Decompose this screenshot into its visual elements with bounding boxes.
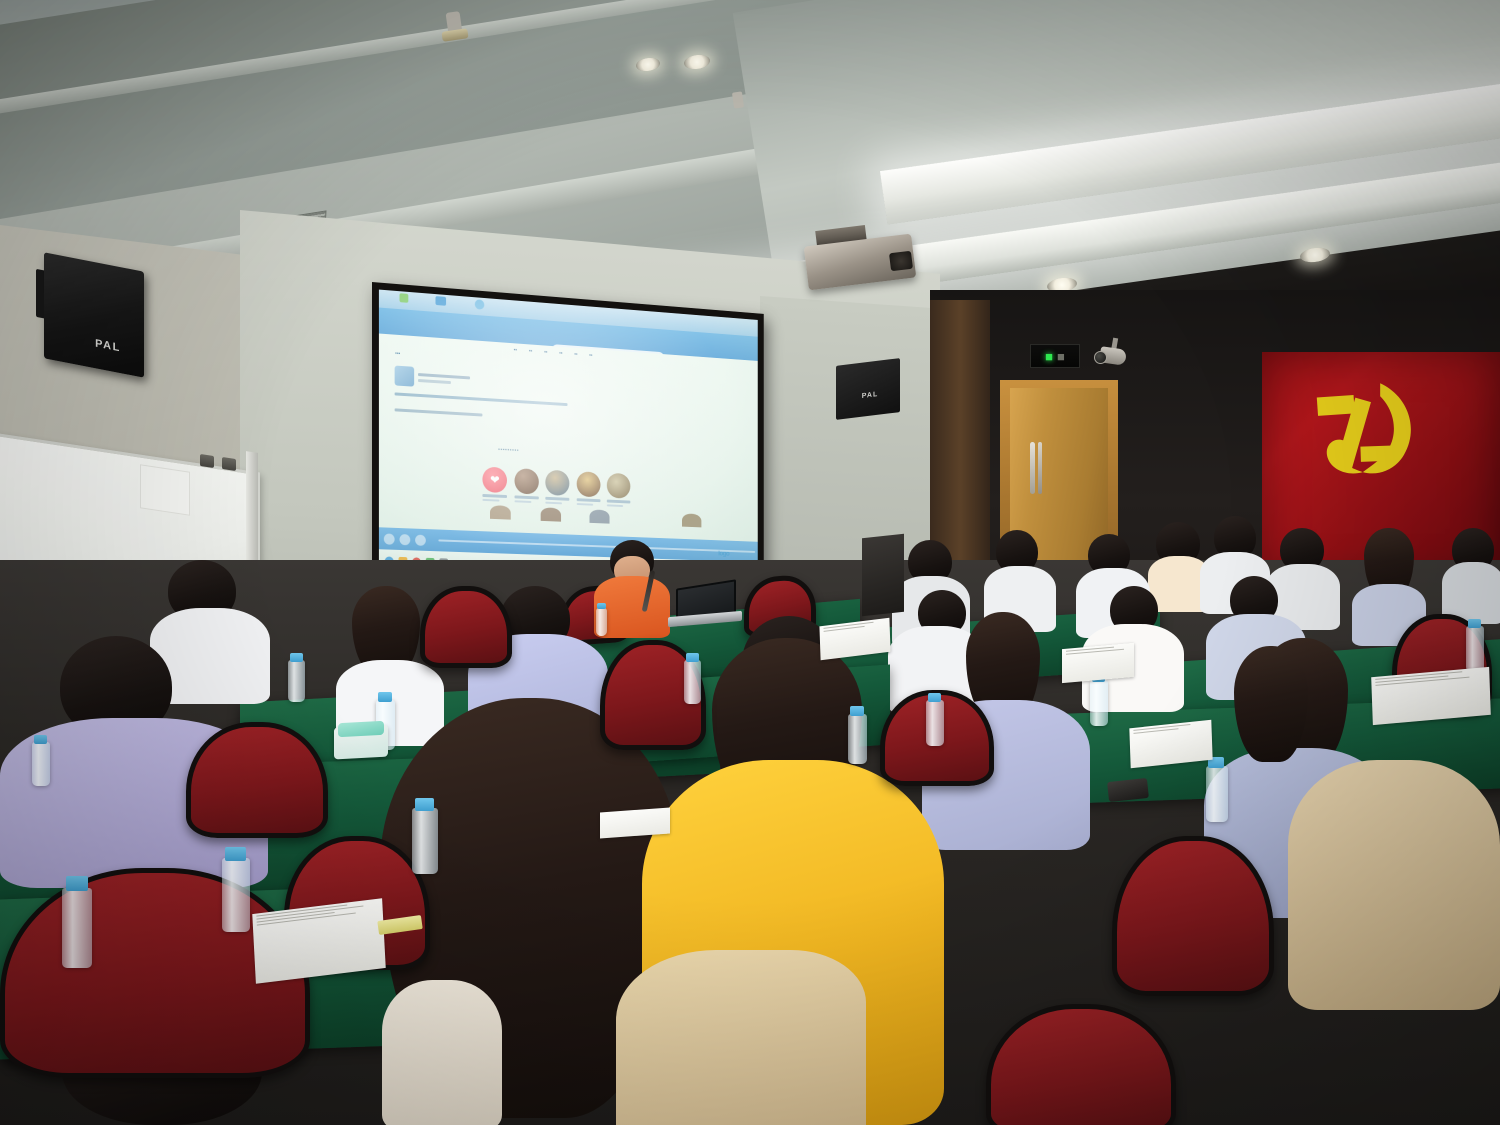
album-thumb-icon: [607, 473, 630, 499]
bottle-cap: [597, 603, 606, 609]
desktop-icon-1[interactable]: [399, 293, 408, 303]
progress-slider[interactable]: [438, 539, 755, 552]
water-bottle[interactable]: [684, 660, 701, 704]
album-thumb-icon: [545, 470, 569, 496]
smartphone[interactable]: [1107, 778, 1149, 802]
nav-tab-2[interactable]: ▪▪: [529, 348, 532, 354]
water-bottle[interactable]: [926, 700, 944, 746]
exit-sign-arrow-icon: ■: [1057, 350, 1065, 363]
door-handle[interactable]: [1030, 442, 1035, 494]
attendee-body: [1288, 760, 1500, 1010]
camera-lens-icon: [1094, 351, 1107, 364]
whiteboard-sheet: [140, 464, 190, 515]
list-item-subline-2: [395, 408, 482, 416]
whiteboard-clip-2: [222, 457, 236, 471]
bottle-cap: [66, 876, 88, 891]
section-title: ▪▪▪: [395, 350, 400, 356]
nav-tab-1[interactable]: ▪▪: [514, 347, 517, 353]
bottle-cap: [1468, 619, 1481, 628]
app-watermark: logo: [718, 551, 729, 558]
prev-button[interactable]: [384, 533, 395, 544]
nav-tab-5[interactable]: ▪▪: [574, 352, 577, 358]
whiteboard-clip-1: [200, 454, 214, 468]
nav-tab-4[interactable]: ▪▪: [559, 350, 562, 356]
tissue-box-lid: [338, 721, 384, 737]
attendee-head: [1234, 646, 1308, 762]
projection-screen: ▪▪ ▪▪ ▪▪ ▪▪ ▪▪ ▪▪ ▪▪▪: [372, 282, 764, 590]
pause-button[interactable]: [400, 534, 411, 545]
chair[interactable]: [420, 586, 512, 668]
album-tile-row2[interactable]: [590, 509, 610, 523]
next-button[interactable]: [415, 534, 426, 545]
list-item-thumbnail: [395, 366, 415, 387]
heart-icon: ❤: [483, 467, 508, 494]
attendee-body: [382, 980, 502, 1125]
bottle-cap: [378, 692, 392, 702]
sprinkler-head: [732, 91, 744, 108]
exit-sign-running-man-icon: ■: [1045, 350, 1053, 363]
nav-tab-3[interactable]: ▪▪: [544, 349, 547, 355]
paper-document[interactable]: [600, 808, 670, 839]
bottle-cap: [686, 653, 699, 662]
album-tile-row2[interactable]: [490, 505, 511, 520]
water-bottle[interactable]: [1090, 680, 1108, 726]
bottle-cap: [34, 735, 47, 744]
nav-tab-6[interactable]: ▪▪: [589, 353, 592, 359]
album-tile[interactable]: [545, 470, 569, 505]
app-content-area: ▪▪ ▪▪ ▪▪ ▪▪ ▪▪ ▪▪ ▪▪▪: [379, 334, 758, 542]
paper-document[interactable]: [1129, 720, 1212, 768]
bottle-cap: [290, 653, 303, 662]
album-tile-row2[interactable]: [541, 507, 561, 521]
water-bottle[interactable]: [32, 742, 50, 786]
bottle-cap: [415, 798, 434, 811]
water-bottle[interactable]: [222, 858, 250, 932]
door-handle-secondary[interactable]: [1038, 442, 1042, 494]
album-grid[interactable]: ❤: [483, 467, 604, 507]
album-tile[interactable]: [607, 473, 630, 508]
water-bottle[interactable]: [1206, 766, 1228, 822]
desktop-icon-2[interactable]: [435, 296, 446, 306]
exit-sign: ■ ■: [1030, 344, 1080, 368]
desktop-icon-3[interactable]: [475, 299, 485, 310]
meeting-room-photo: PAL PAL ■ ■: [0, 0, 1500, 1125]
bottle-cap: [928, 693, 941, 702]
list-item[interactable]: [395, 366, 470, 391]
attendee-jacket: [616, 950, 866, 1125]
paper-document[interactable]: [1062, 643, 1134, 683]
album-tile[interactable]: ❤: [483, 467, 508, 502]
speaker-right: [836, 358, 900, 420]
album-tile-row2[interactable]: [682, 513, 701, 527]
album-tile[interactable]: [514, 468, 538, 503]
hammer-and-sickle-icon: [1300, 372, 1430, 492]
list-item-text: [419, 373, 471, 385]
water-bottle[interactable]: [62, 888, 92, 968]
chair[interactable]: [186, 722, 328, 838]
speaker-left: [44, 252, 144, 377]
projector-lens-icon: [889, 251, 913, 272]
album-tile[interactable]: [576, 471, 600, 506]
water-bottle[interactable]: [288, 660, 305, 702]
water-bottle[interactable]: [848, 714, 867, 764]
projected-desktop: ▪▪ ▪▪ ▪▪ ▪▪ ▪▪ ▪▪ ▪▪▪: [379, 290, 758, 583]
album-thumb-icon: [514, 468, 538, 494]
list-item-subline: [395, 393, 567, 407]
lectern: [862, 534, 904, 616]
bottle-cap: [225, 847, 246, 861]
album-thumb-icon: [576, 471, 600, 497]
category-tab-row[interactable]: ▪ ▪ ▪ ▪ ▪ ▪ ▪ ▪ ▪: [498, 446, 513, 453]
water-bottle[interactable]: [1466, 626, 1484, 672]
water-bottle[interactable]: [412, 808, 438, 874]
category-tab-9[interactable]: ▪: [517, 447, 519, 453]
bottle-cap: [850, 706, 864, 716]
water-bottle[interactable]: [596, 608, 607, 636]
